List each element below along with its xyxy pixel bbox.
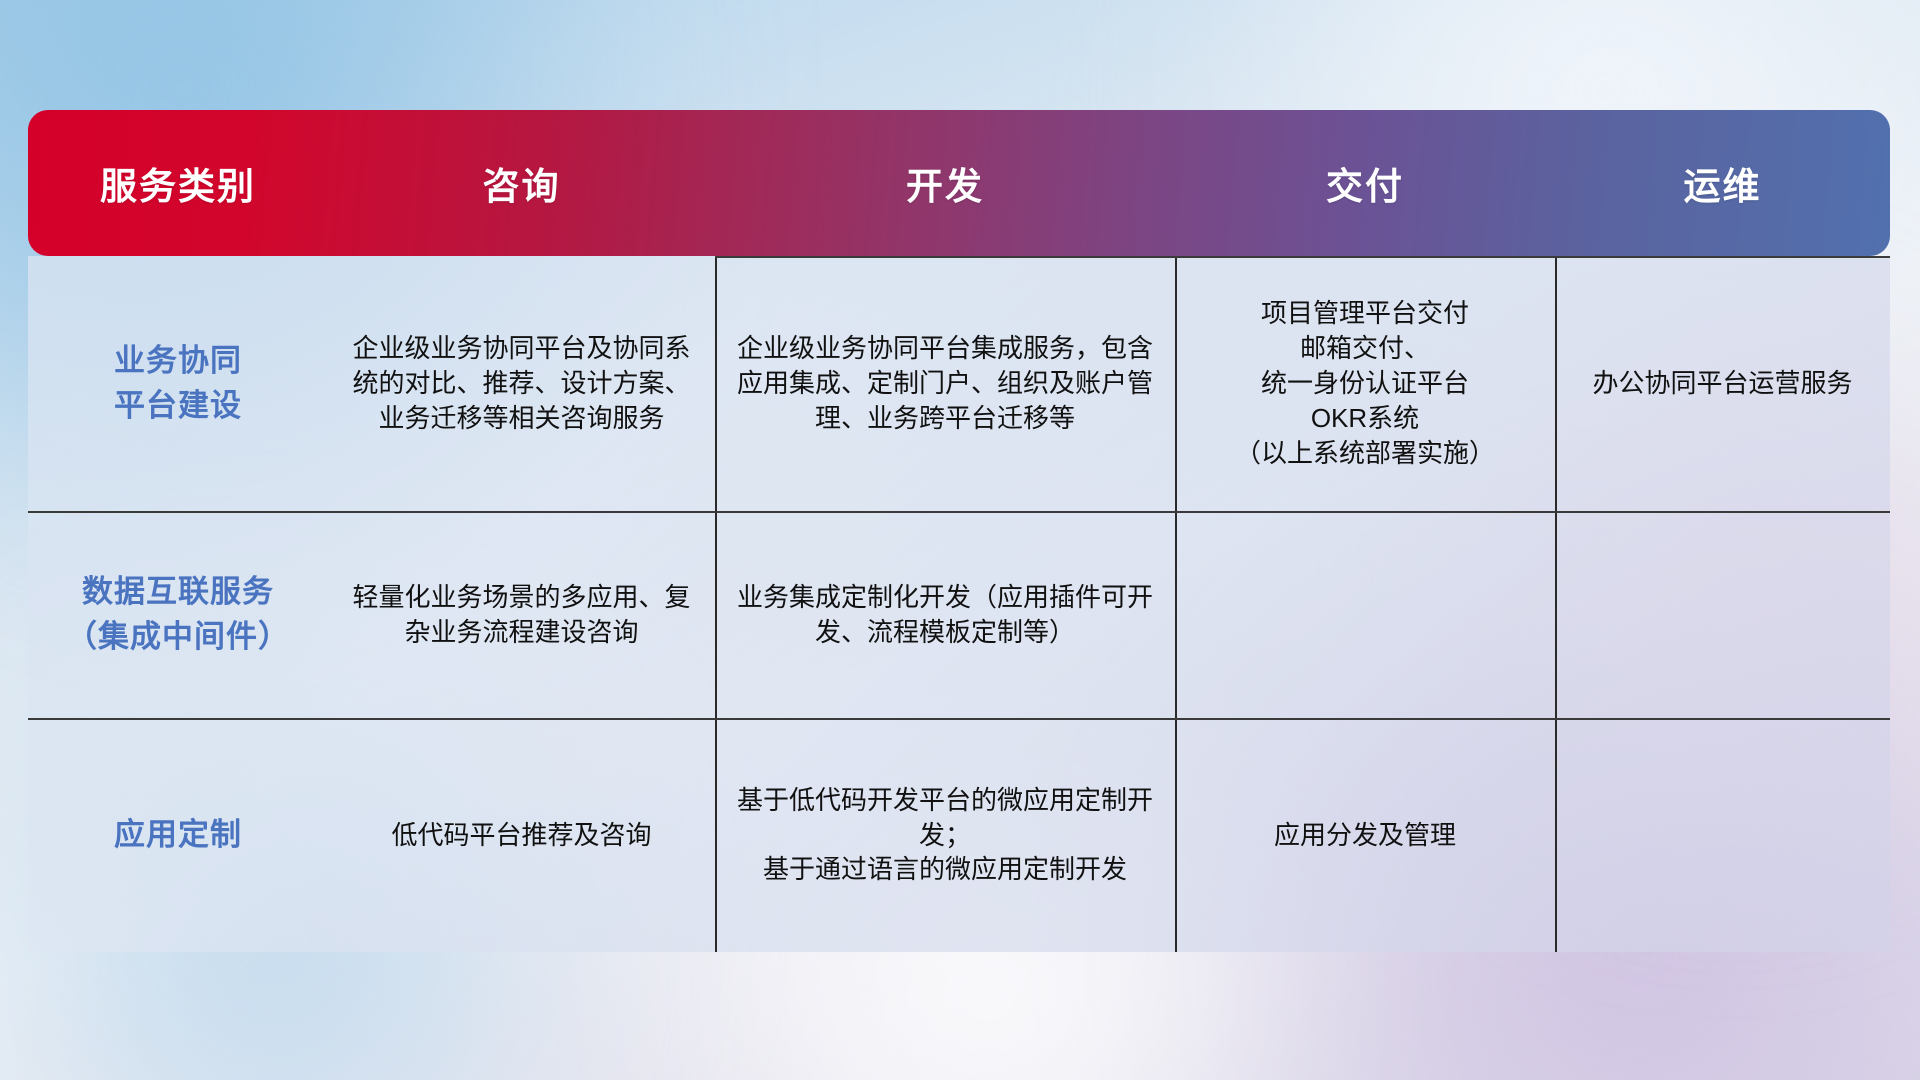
cell-delivery: 应用分发及管理	[1175, 718, 1555, 952]
row-category-label: 数据互联服务（集成中间件）	[28, 511, 328, 718]
cell-consulting: 低代码平台推荐及咨询	[328, 718, 715, 952]
column-header-service-category: 服务类别	[28, 156, 328, 210]
column-header-operations: 运维	[1555, 156, 1890, 210]
table-row: 业务协同平台建设 企业级业务协同平台及协同系统的对比、推荐、设计方案、业务迁移等…	[28, 256, 1890, 511]
row-category-label: 应用定制	[28, 718, 328, 952]
cell-operations	[1555, 511, 1890, 718]
cell-operations: 办公协同平台运营服务	[1555, 256, 1890, 511]
cell-delivery	[1175, 511, 1555, 718]
cell-development: 业务集成定制化开发（应用插件可开发、流程模板定制等）	[715, 511, 1175, 718]
cell-operations	[1555, 718, 1890, 952]
table-row: 应用定制 低代码平台推荐及咨询 基于低代码开发平台的微应用定制开发；基于通过语言…	[28, 718, 1890, 952]
cell-delivery: 项目管理平台交付邮箱交付、统一身份认证平台OKR系统（以上系统部署实施）	[1175, 256, 1555, 511]
cell-consulting: 轻量化业务场景的多应用、复杂业务流程建设咨询	[328, 511, 715, 718]
table-body: 业务协同平台建设 企业级业务协同平台及协同系统的对比、推荐、设计方案、业务迁移等…	[28, 256, 1890, 952]
column-header-development: 开发	[715, 156, 1175, 210]
row-category-label: 业务协同平台建设	[28, 256, 328, 511]
column-header-consulting: 咨询	[328, 156, 715, 210]
table-header-row: 服务类别 咨询 开发 交付 运维	[28, 110, 1890, 256]
cell-development: 企业级业务协同平台集成服务，包含应用集成、定制门户、组织及账户管理、业务跨平台迁…	[715, 256, 1175, 511]
service-matrix-table: 服务类别 咨询 开发 交付 运维 业务协同平台建设 企业级业务协同平台及协同系统…	[28, 110, 1890, 952]
cell-consulting: 企业级业务协同平台及协同系统的对比、推荐、设计方案、业务迁移等相关咨询服务	[328, 256, 715, 511]
table-row: 数据互联服务（集成中间件） 轻量化业务场景的多应用、复杂业务流程建设咨询 业务集…	[28, 511, 1890, 718]
cell-development: 基于低代码开发平台的微应用定制开发；基于通过语言的微应用定制开发	[715, 718, 1175, 952]
column-header-delivery: 交付	[1175, 156, 1555, 210]
